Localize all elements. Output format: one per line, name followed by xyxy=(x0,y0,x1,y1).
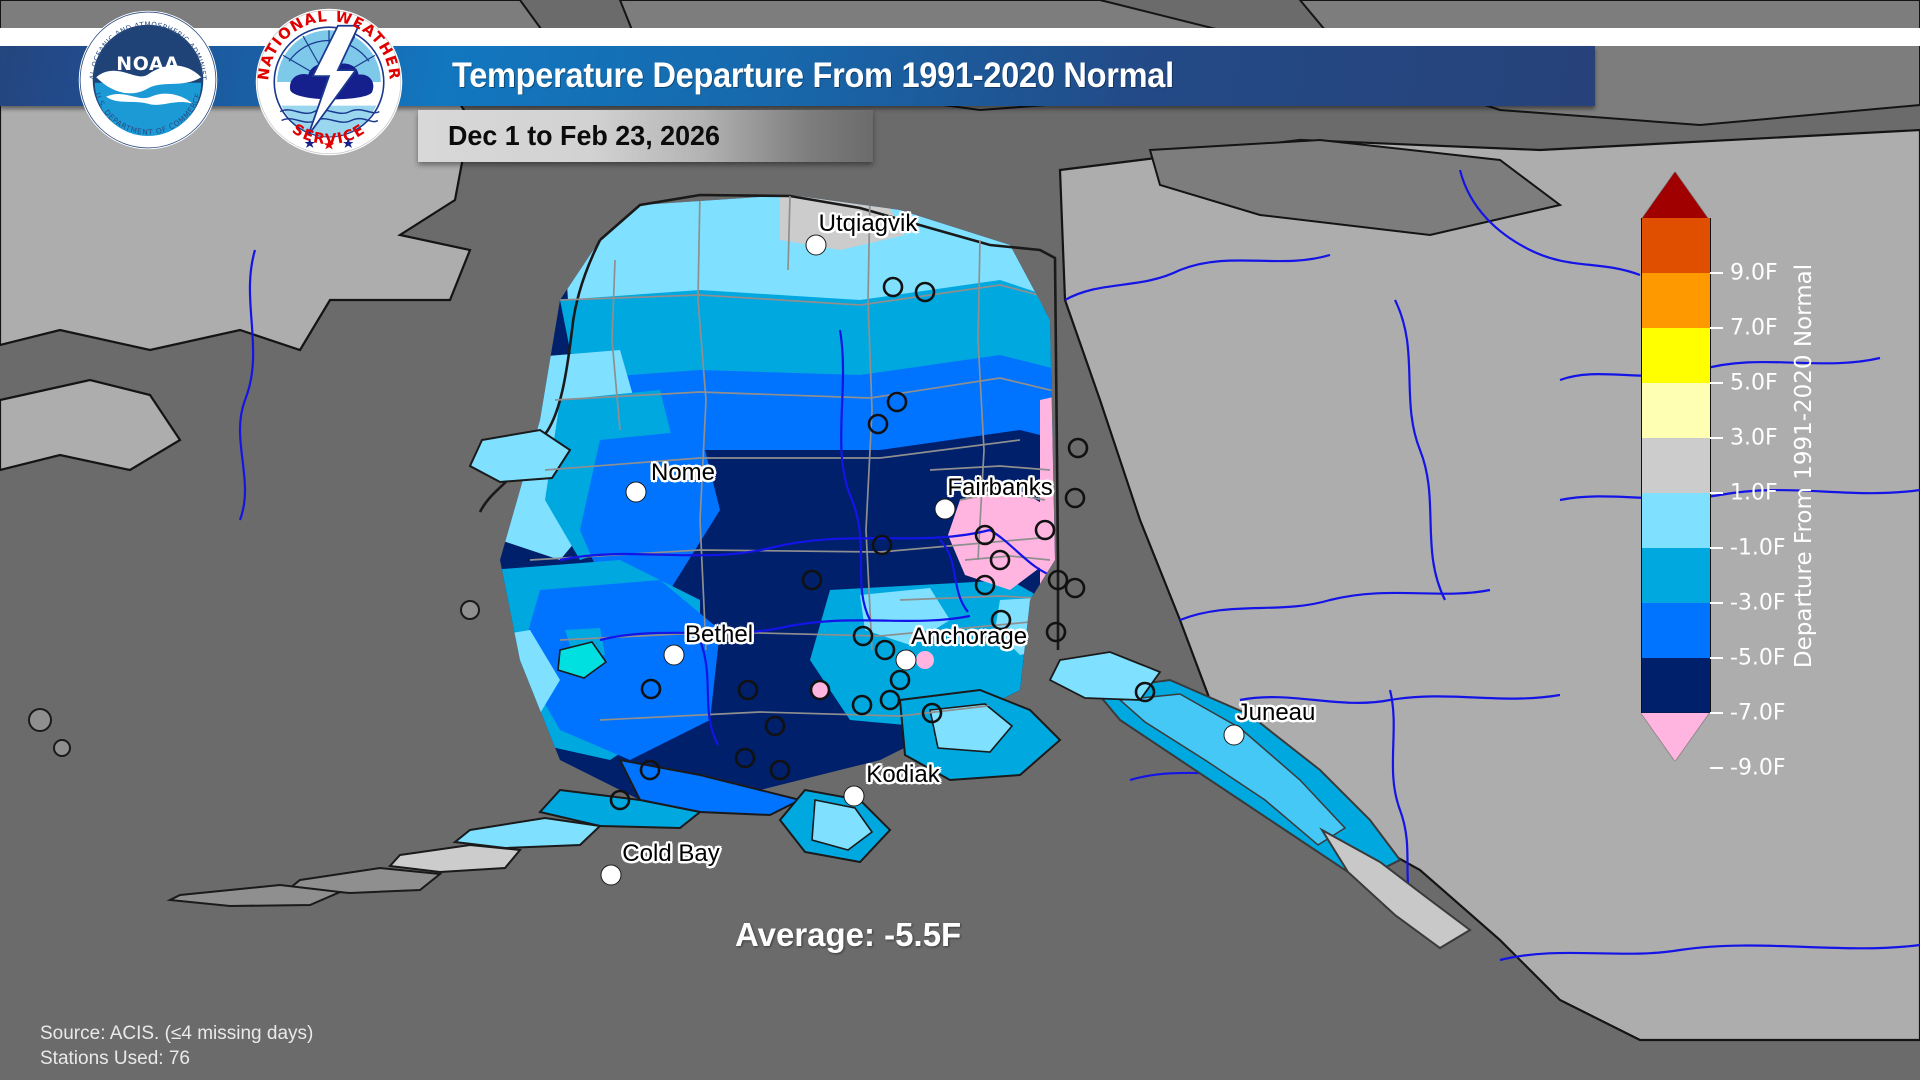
colorbar-tick-label: 9.0F xyxy=(1730,261,1778,286)
station-dot-juneau xyxy=(1224,725,1245,746)
colorbar-tick xyxy=(1710,272,1723,274)
colorbar-axis-title: Departure From 1991-2020 Normal xyxy=(1791,263,1817,667)
colorbar-tick xyxy=(1710,712,1723,714)
colorbar-band xyxy=(1641,438,1711,493)
city-label-kodiak: Kodiak xyxy=(866,761,939,789)
colorbar-tick-label: -9.0F xyxy=(1730,756,1786,781)
colorbar-top-arrow xyxy=(1641,172,1709,220)
colorbar-tick-label: 3.0F xyxy=(1730,426,1778,451)
colorbar-tick xyxy=(1710,437,1723,439)
city-label-cold-bay: Cold Bay xyxy=(622,840,719,868)
nws-logo: NATIONAL WEATHER SERVICE xyxy=(255,8,403,156)
colorbar-tick xyxy=(1710,602,1723,604)
city-label-nome: Nome xyxy=(651,459,715,487)
colorbar-tick-label: -3.0F xyxy=(1730,591,1786,616)
city-label-fairbanks: Fairbanks xyxy=(947,474,1052,502)
colorbar-tick xyxy=(1710,767,1723,769)
noaa-logo: NOAA NATIONAL OCEANIC AND ATMOSPHERIC AD… xyxy=(78,10,218,150)
colorbar-tick xyxy=(1710,492,1723,494)
colorbar-tick xyxy=(1710,382,1723,384)
colorbar-tick xyxy=(1710,547,1723,549)
source-line: Source: ACIS. (≤4 missing days) xyxy=(40,1021,313,1046)
city-label-juneau: Juneau xyxy=(1237,699,1316,727)
colorbar-tick-label: 7.0F xyxy=(1730,316,1778,341)
colorbar-tick-label: 5.0F xyxy=(1730,371,1778,396)
date-range-label: Dec 1 to Feb 23, 2026 xyxy=(448,120,720,152)
footer-credits: Source: ACIS. (≤4 missing days) Stations… xyxy=(40,1021,313,1071)
colorbar-band xyxy=(1641,603,1711,658)
colorbar-bands xyxy=(1641,218,1709,713)
colorbar-tick-label: 1.0F xyxy=(1730,481,1778,506)
station-dot-anchorage xyxy=(896,650,917,671)
areal-average-label: Average: -5.5F xyxy=(735,916,961,954)
colorbar-band xyxy=(1641,493,1711,548)
svg-text:NOAA: NOAA xyxy=(116,53,179,75)
title-bar: Temperature Departure From 1991-2020 Nor… xyxy=(0,46,1595,106)
legend-colorbar: 9.0F7.0F5.0F3.0F1.0F-1.0F-3.0F-5.0F-7.0F… xyxy=(1628,158,1920,928)
station-dot-kodiak xyxy=(844,786,865,807)
colorbar-band xyxy=(1641,548,1711,603)
map-canvas: Temperature Departure From 1991-2020 Nor… xyxy=(0,0,1920,1080)
colorbar-tick xyxy=(1710,657,1723,659)
station-dot-bethel xyxy=(664,645,685,666)
subtitle-box: Dec 1 to Feb 23, 2026 xyxy=(418,110,873,162)
city-label-bethel: Bethel xyxy=(685,621,753,649)
city-label-utqiagvik: Utqiagvik xyxy=(819,210,918,238)
colorbar-tick-label: -7.0F xyxy=(1730,701,1786,726)
city-label-anchorage: Anchorage xyxy=(911,623,1027,651)
page-title: Temperature Departure From 1991-2020 Nor… xyxy=(452,56,1174,96)
colorbar-tick-label: -1.0F xyxy=(1730,536,1786,561)
colorbar-band xyxy=(1641,273,1711,328)
colorbar-tick xyxy=(1710,327,1723,329)
colorbar-band xyxy=(1641,658,1711,713)
colorbar-band xyxy=(1641,328,1711,383)
station-dot-nome xyxy=(626,482,647,503)
colorbar-band xyxy=(1641,218,1711,273)
stations-line: Stations Used: 76 xyxy=(40,1046,313,1071)
colorbar-band xyxy=(1641,383,1711,438)
colorbar-tick-label: -5.0F xyxy=(1730,646,1786,671)
station-dot-cold-bay xyxy=(601,865,622,886)
colorbar-bottom-arrow xyxy=(1641,713,1709,761)
